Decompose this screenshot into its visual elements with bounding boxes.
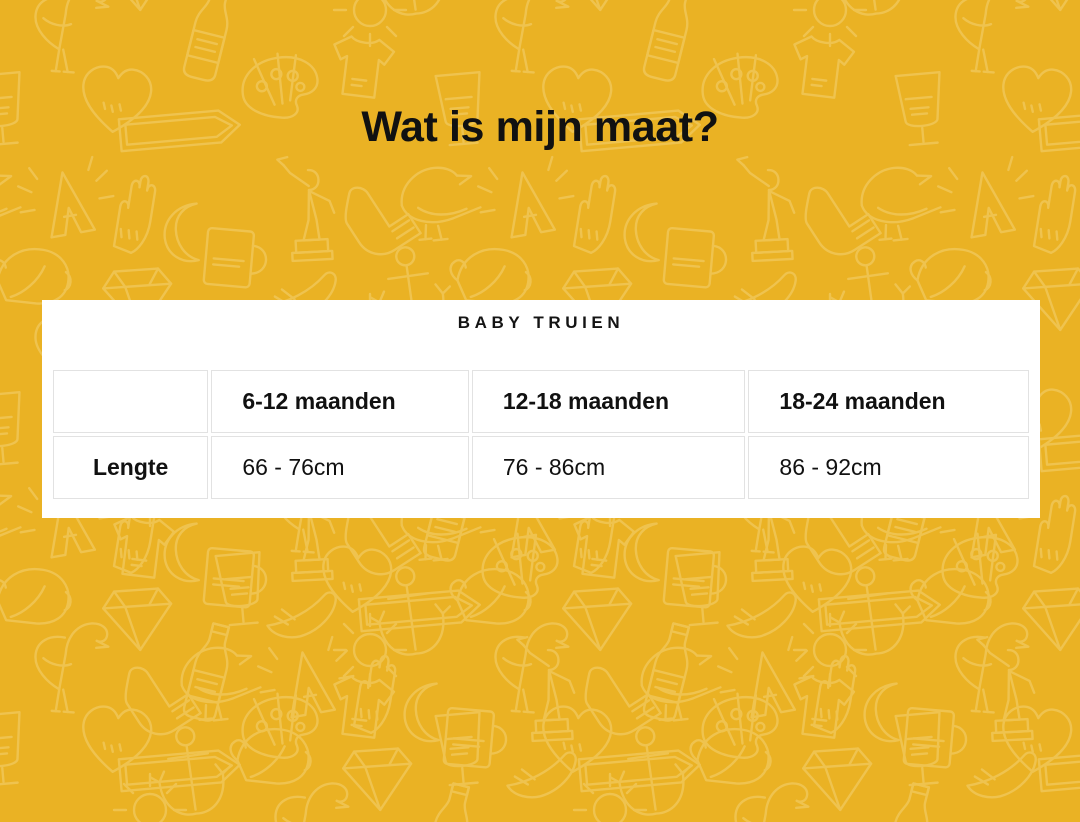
table-header-6-12-maanden: 6-12 maanden: [211, 370, 469, 433]
table-header-blank: [53, 370, 208, 433]
size-chart-heading: BABY TRUIEN: [42, 313, 1040, 333]
cell-lengte-12-18-maanden: 76 - 86cm: [472, 436, 746, 499]
page-title: Wat is mijn maat?: [0, 103, 1080, 152]
size-chart-table: 6-12 maanden 12-18 maanden 18-24 maanden…: [50, 367, 1032, 502]
cell-lengte-18-24-maanden: 86 - 92cm: [748, 436, 1029, 499]
table-row: Lengte 66 - 76cm 76 - 86cm 86 - 92cm: [53, 436, 1029, 499]
size-chart-card: BABY TRUIEN 6-12 maanden 12-18 maanden 1…: [42, 300, 1040, 518]
cell-lengte-6-12-maanden: 66 - 76cm: [211, 436, 469, 499]
table-header-12-18-maanden: 12-18 maanden: [472, 370, 746, 433]
table-header-row: 6-12 maanden 12-18 maanden 18-24 maanden: [53, 370, 1029, 433]
row-label-lengte: Lengte: [53, 436, 208, 499]
table-header-18-24-maanden: 18-24 maanden: [748, 370, 1029, 433]
